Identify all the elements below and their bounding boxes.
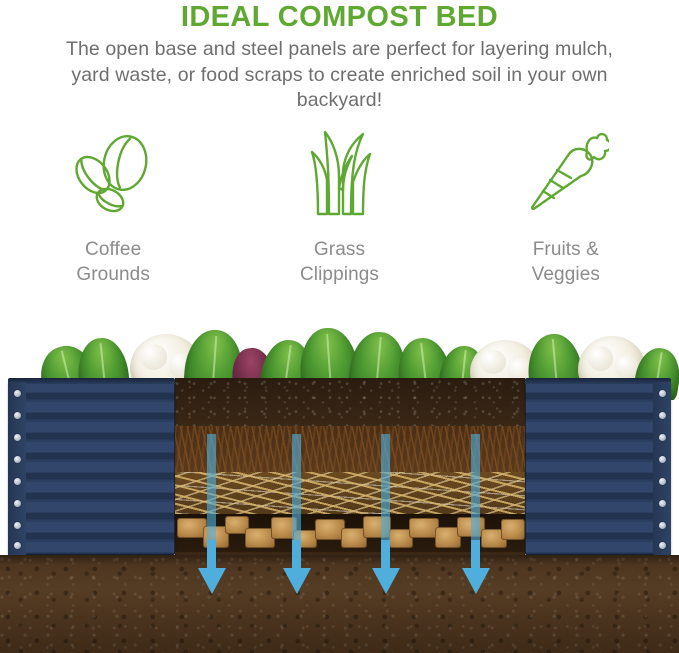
carrot-icon <box>523 128 609 220</box>
layer-compost-soil <box>175 378 525 426</box>
header: IDEAL COMPOST BED The open base and stee… <box>0 0 679 114</box>
grass-blades-icon <box>299 128 379 220</box>
raised-garden-bed-illustration <box>0 318 679 653</box>
feature-grass-clippings: Grass Clippings <box>226 128 452 287</box>
feature-coffee-grounds: Coffee Grounds <box>0 128 226 287</box>
product-infographic: IDEAL COMPOST BED The open base and stee… <box>0 0 679 653</box>
screw-column <box>653 382 671 555</box>
bed-panel-right <box>525 382 671 555</box>
panel-top-cap <box>525 378 671 384</box>
feature-label: Fruits & Veggies <box>532 237 600 287</box>
compost-material-list: Coffee Grounds Grass Clippings <box>0 128 679 287</box>
soil-cross-section <box>175 378 525 558</box>
water-flow-arrow <box>381 540 390 568</box>
page-title: IDEAL COMPOST BED <box>0 0 679 33</box>
page-subtitle: The open base and steel panels are perfe… <box>47 37 632 114</box>
feature-fruits-veggies: Fruits & Veggies <box>453 128 679 287</box>
bed-panel-left <box>8 382 175 555</box>
ground-soil <box>0 555 679 653</box>
screw-column <box>8 382 26 555</box>
coffee-beans-icon <box>67 128 159 220</box>
water-flow-arrow <box>471 540 480 568</box>
ground-surface-shadow <box>0 555 679 565</box>
panel-top-cap <box>8 378 175 384</box>
water-flow-arrow <box>292 540 301 568</box>
feature-label: Grass Clippings <box>300 237 379 287</box>
feature-label: Coffee Grounds <box>76 237 150 287</box>
water-flow-arrow <box>207 540 216 568</box>
